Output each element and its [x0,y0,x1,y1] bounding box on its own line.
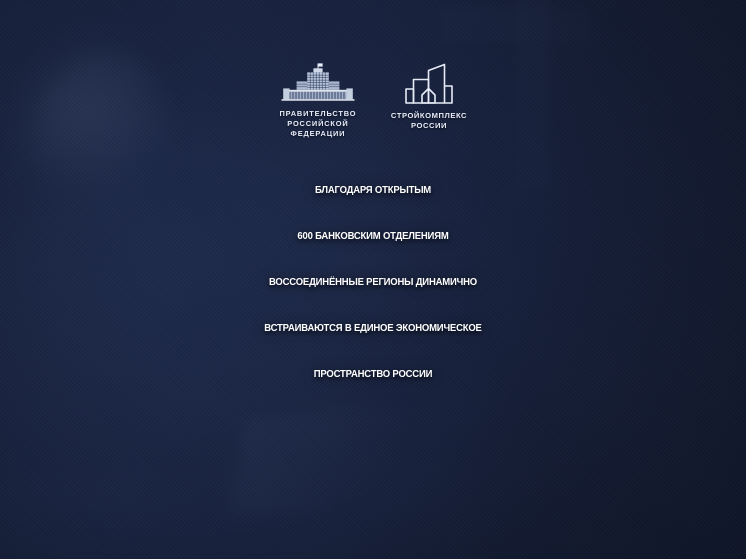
headline-line-3: ВОССОЕДИНЁННЫЕ РЕГИОНЫ ДИНАМИЧНО [26,260,720,306]
government-house-icon [279,62,357,104]
logo-bar: ПРАВИТЕЛЬСТВО РОССИЙСКОЙ ФЕДЕРАЦИИ СТРОЙ… [0,62,746,140]
headline-line-4: ВСТРАИВАЮТСЯ В ЕДИНОЕ ЭКОНОМИЧЕСКОЕ [26,306,720,352]
logo-stroykompleks: СТРОЙКОМПЛЕКС РОССИИ [391,62,467,132]
logo-stroykompleks-caption: СТРОЙКОМПЛЕКС РОССИИ [391,111,467,132]
logo-government-of-russia: ПРАВИТЕЛЬСТВО РОССИЙСКОЙ ФЕДЕРАЦИИ [279,62,357,140]
poster-banner: ПРАВИТЕЛЬСТВО РОССИЙСКОЙ ФЕДЕРАЦИИ СТРОЙ… [0,0,746,559]
headline-block: БЛАГОДАРЯ ОТКРЫТЫМ 600 БАНКОВСКИМ ОТДЕЛЕ… [0,168,746,398]
headline-line-1: БЛАГОДАРЯ ОТКРЫТЫМ [26,168,720,214]
headline-line-5: ПРОСТРАНСТВО РОССИИ [26,352,720,398]
headline-line-2: 600 БАНКОВСКИМ ОТДЕЛЕНИЯМ [26,214,720,260]
buildings-outline-icon [401,62,457,106]
logo-government-caption: ПРАВИТЕЛЬСТВО РОССИЙСКОЙ ФЕДЕРАЦИИ [279,109,356,140]
